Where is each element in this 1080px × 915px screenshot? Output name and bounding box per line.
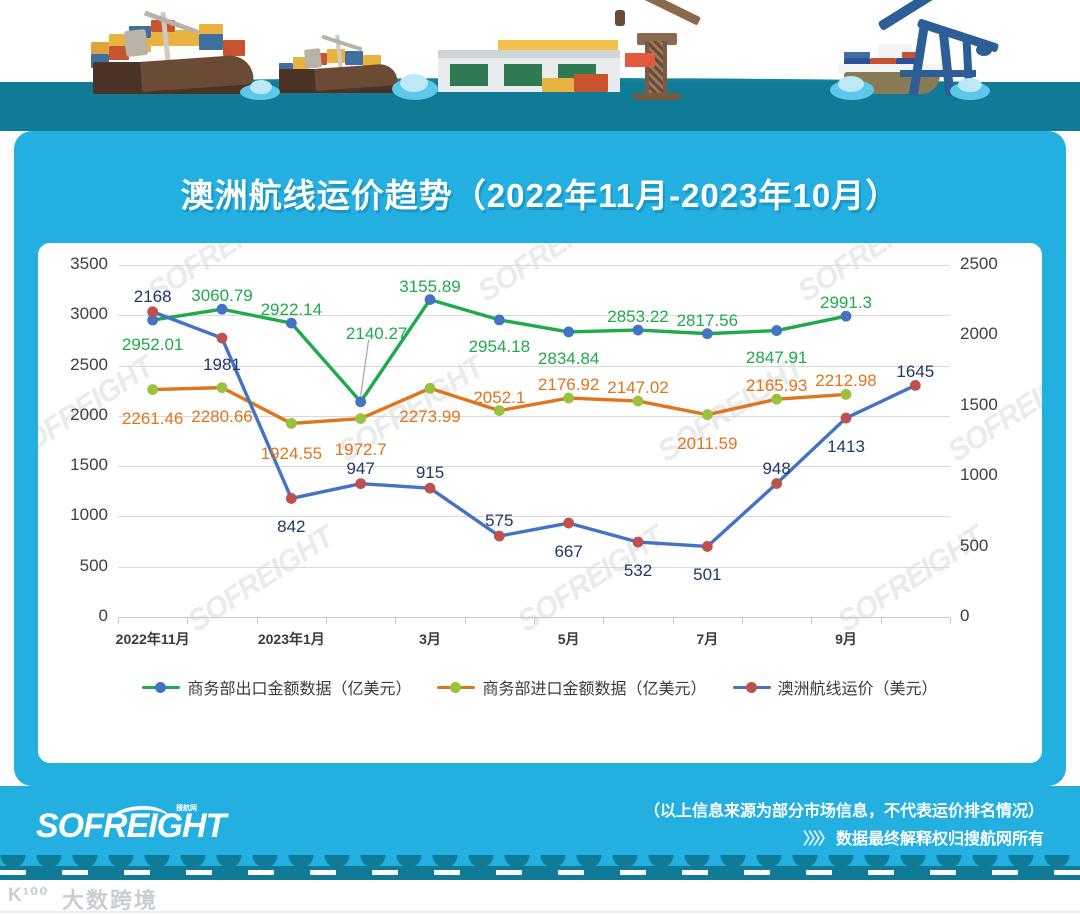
brand-mark-icon: K¹⁰⁰ — [8, 884, 49, 907]
series-marker — [633, 537, 644, 548]
series-marker — [355, 396, 366, 407]
data-point-label: 2147.02 — [607, 378, 668, 398]
chart-panel: SOFREIGHT SOFREIGHT SOFREIGHT SOFREIGHT … — [38, 243, 1042, 763]
series-marker — [494, 314, 505, 325]
series-marker — [425, 383, 436, 394]
data-point-label: 2922.14 — [261, 300, 322, 320]
scallop-dashes — [0, 870, 1080, 875]
footer-note-line2: 数据最终解释权归搜航网所有 — [836, 831, 1044, 848]
series-marker — [771, 478, 782, 489]
footer-note-line1: （以上信息来源为部分市场信息，不代表运价排名情况） — [644, 798, 1044, 826]
data-point-label: 2834.84 — [538, 349, 599, 369]
series-marker — [425, 483, 436, 494]
data-point-label: 915 — [416, 463, 444, 483]
series-marker — [147, 306, 158, 317]
chart-legend: 商务部出口金额数据（亿美元）商务部进口金额数据（亿美元）澳洲航线运价（美元） — [38, 675, 1042, 699]
legend-item[interactable]: 商务部出口金额数据（亿美元） — [142, 675, 411, 699]
series-marker — [494, 531, 505, 542]
main-card: 澳洲航线运价趋势（2022年11月-2023年10月） SOFREIGHT SO… — [14, 131, 1066, 786]
data-point-label: 1413 — [827, 437, 865, 457]
logo-tagline: 搜航网 — [176, 804, 197, 813]
sofreight-logo: 搜航网 SOFREIGHT — [36, 800, 206, 852]
series-marker — [217, 382, 228, 393]
data-point-label: 532 — [624, 561, 652, 581]
data-point-label: 1645 — [896, 362, 934, 382]
data-point-label: 2273.99 — [399, 407, 460, 427]
data-point-label: 501 — [693, 565, 721, 585]
footer-note: （以上信息来源为部分市场信息，不代表运价排名情况） 〉〉〉〉数据最终解释权归搜航… — [644, 798, 1044, 854]
series-marker — [217, 333, 228, 344]
chevrons-icon: 〉〉〉〉 — [803, 831, 831, 848]
data-point-label: 1924.55 — [261, 444, 322, 464]
data-point-label: 2165.93 — [746, 376, 807, 396]
series-marker — [702, 409, 713, 420]
legend-marker-icon — [437, 681, 475, 693]
series-marker — [355, 413, 366, 424]
data-point-label: 842 — [277, 517, 305, 537]
hero-illustration — [0, 0, 1080, 131]
data-point-label: 667 — [554, 542, 582, 562]
container-ship-large-icon — [85, 10, 265, 90]
legend-marker-icon — [142, 681, 180, 693]
series-marker — [563, 326, 574, 337]
data-point-label: 2052.1 — [473, 388, 525, 408]
warehouse-icon — [438, 40, 618, 92]
series-marker — [286, 418, 297, 429]
data-point-label: 947 — [346, 459, 374, 479]
data-point-label: 1972.7 — [335, 440, 387, 460]
series-marker — [563, 518, 574, 529]
series-marker — [147, 384, 158, 395]
data-point-label: 2011.59 — [677, 434, 737, 454]
data-point-label: 2176.92 — [538, 375, 599, 395]
series-marker — [355, 478, 366, 489]
line-chart: 0500100015002000250030003500 05001000150… — [38, 243, 1042, 763]
data-point-label: 2991.3 — [820, 293, 872, 313]
data-point-label: 3155.89 — [399, 277, 460, 297]
poster-root: 澳洲航线运价趋势（2022年11月-2023年10月） SOFREIGHT SO… — [0, 0, 1080, 915]
gantry-crane-icon — [880, 8, 1000, 96]
data-point-label: 2261.46 — [122, 409, 183, 429]
legend-item[interactable]: 澳洲航线运价（美元） — [733, 675, 938, 699]
series-marker — [702, 541, 713, 552]
series-marker — [771, 325, 782, 336]
footer-note-line2-wrap: 〉〉〉〉数据最终解释权归搜航网所有 — [644, 826, 1044, 854]
container-ship-small-icon — [275, 35, 405, 93]
data-point-label: 2817.56 — [677, 311, 738, 331]
data-point-label: 1981 — [203, 355, 241, 375]
legend-label: 商务部出口金额数据（亿美元） — [187, 675, 411, 699]
brand-strip: K¹⁰⁰ 大数跨境 — [0, 880, 1080, 915]
data-point-label: 948 — [762, 459, 790, 479]
data-point-label: 2954.18 — [469, 337, 530, 357]
data-point-label: 575 — [485, 511, 513, 531]
legend-label: 商务部进口金额数据（亿美元） — [482, 675, 706, 699]
data-point-label: 2280.66 — [191, 407, 252, 427]
label-leader-line — [361, 340, 369, 396]
data-point-label: 2952.01 — [122, 335, 183, 355]
brand-divider — [0, 911, 1080, 913]
legend-label: 澳洲航线运价（美元） — [778, 675, 938, 699]
data-point-label: 2847.91 — [746, 348, 807, 368]
legend-item[interactable]: 商务部进口金额数据（亿美元） — [437, 675, 706, 699]
page-title: 澳洲航线运价趋势（2022年11月-2023年10月） — [14, 169, 1066, 217]
data-point-label: 2853.22 — [607, 307, 668, 327]
data-point-label: 2140.27 — [346, 324, 407, 344]
data-point-label: 3060.79 — [191, 286, 252, 306]
series-marker — [286, 493, 297, 504]
data-point-label: 2168 — [134, 287, 172, 307]
data-point-label: 2212.98 — [815, 371, 876, 391]
legend-marker-icon — [733, 681, 771, 693]
series-marker — [841, 413, 852, 424]
port-crane-icon — [615, 5, 705, 95]
